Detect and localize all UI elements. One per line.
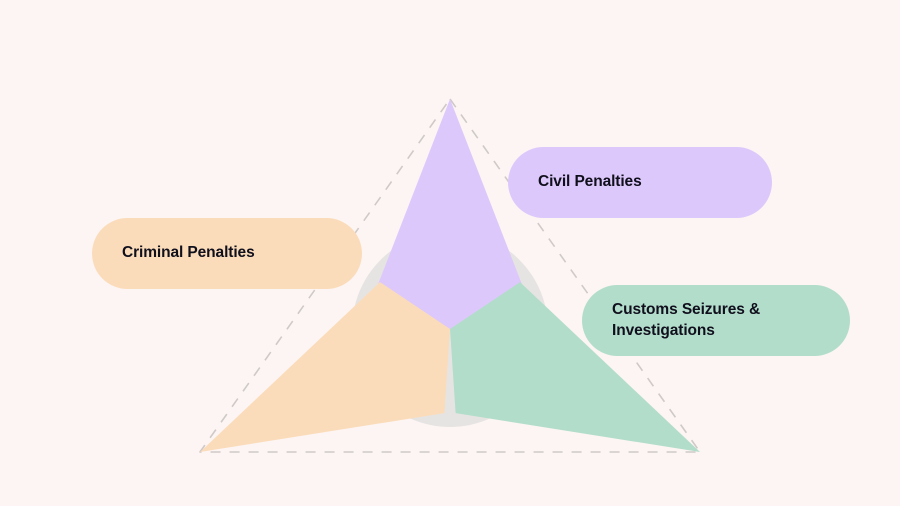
label-pill-customs-seizures[interactable]: Customs Seizures & Investigations [582, 285, 850, 356]
label-pill-criminal-penalties[interactable]: Criminal Penalties [92, 218, 362, 289]
label-text-customs-seizures: Customs Seizures & Investigations [612, 300, 760, 342]
label-text-civil-penalties: Civil Penalties [538, 172, 642, 193]
diagram-canvas: Criminal Penalties Civil Penalties Custo… [0, 0, 900, 506]
label-text-criminal-penalties: Criminal Penalties [122, 243, 255, 264]
blade-civil-penalties [377, 99, 523, 329]
blade-criminal-penalties [200, 282, 450, 452]
label-pill-civil-penalties[interactable]: Civil Penalties [508, 147, 772, 218]
